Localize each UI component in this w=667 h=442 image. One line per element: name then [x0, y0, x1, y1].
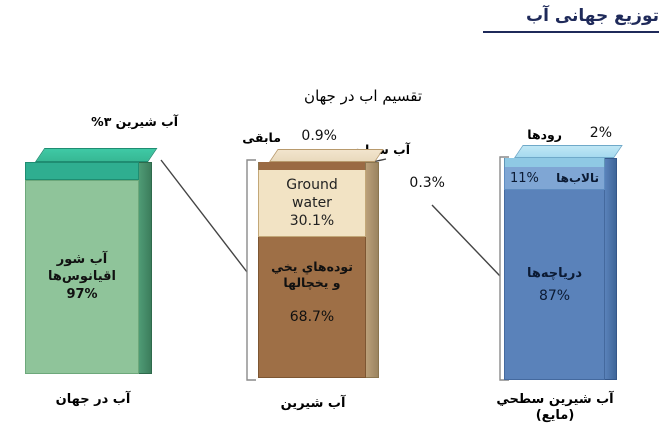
bar1-caption: آب در جهان	[38, 392, 148, 408]
bar3-wetlands-value: 11%	[510, 171, 539, 186]
bar2-groundwater-value: 30.1%	[290, 213, 334, 229]
bar1-side-face	[138, 162, 152, 374]
bar3-top-face	[514, 145, 623, 158]
bar3-side-face	[604, 158, 617, 380]
bar2-segment-remainder	[258, 162, 366, 170]
bar2-ice-line1: توده‌هاي يخي	[271, 259, 353, 274]
title-underline	[483, 31, 659, 33]
bar3-caption-line1: آب شيرين سطحي	[496, 392, 613, 407]
bar3-wetlands-label: تالاب‌ها	[556, 171, 599, 185]
bar1-top-label: آب شیرین ۳%	[91, 114, 178, 129]
bar3-rivers-value: 2%	[590, 125, 612, 141]
bar2-ice-line2: و يخچالها	[283, 275, 340, 290]
bar2-segment-groundwater: Ground water 30.1%	[258, 170, 366, 237]
bar2-surface-value: 0.3%	[409, 175, 445, 191]
bar3-segment-lakes: درياچه‌ها 87%	[504, 190, 605, 380]
bar2-top-face	[269, 149, 384, 162]
bar2-groundwater-line1: Ground	[286, 177, 338, 193]
bar3-rivers-label: رودها	[527, 127, 562, 142]
bar3-lakes-label: درياچه‌ها	[505, 266, 604, 281]
bar1-ocean-text: آب شور اقیانوس‌ها 97%	[48, 251, 116, 303]
bar2-side-face	[365, 162, 379, 378]
bar1-ocean-value: 97%	[48, 286, 116, 303]
bar2-remainder-value: 0.9%	[301, 128, 337, 144]
bar2-remainder-label: مابقی	[242, 130, 281, 145]
bar1-segment-freshwater	[25, 162, 139, 180]
bar3-lakes-value: 87%	[505, 288, 604, 304]
bar3-caption-line2: (مايع)	[536, 408, 575, 423]
chart-subtitle: تقسیم اب در جهان	[304, 87, 422, 105]
bar3-segment-wetlands: تالاب‌ها 11%	[504, 167, 605, 190]
bar2-ice-value: 68.7%	[259, 309, 365, 325]
bar1-ocean-label-line2: اقیانوس‌ها	[48, 269, 116, 284]
bar2-groundwater-text: Ground water 30.1%	[286, 176, 338, 230]
bar1-segment-ocean: آب شور اقیانوس‌ها 97%	[25, 180, 139, 374]
bar3-caption: آب شيرين سطحي (مايع)	[495, 392, 615, 424]
page-title: توزیع جهانی آب	[526, 6, 659, 29]
infographic-canvas: توزیع جهانی آب تقسیم اب در جهان آب شیرین…	[0, 0, 667, 442]
bar2-segment-ice: توده‌هاي يخي و يخچالها 68.7%	[258, 237, 366, 378]
bar2-ice-text: توده‌هاي يخي و يخچالها	[259, 259, 365, 291]
bar1-top-face	[35, 148, 157, 162]
bar2-caption: آب شیرین	[258, 396, 368, 412]
bar1-ocean-label-line1: آب شور	[57, 252, 107, 267]
bar2-groundwater-line2: water	[292, 195, 332, 211]
bar3-segment-rivers	[504, 158, 605, 167]
